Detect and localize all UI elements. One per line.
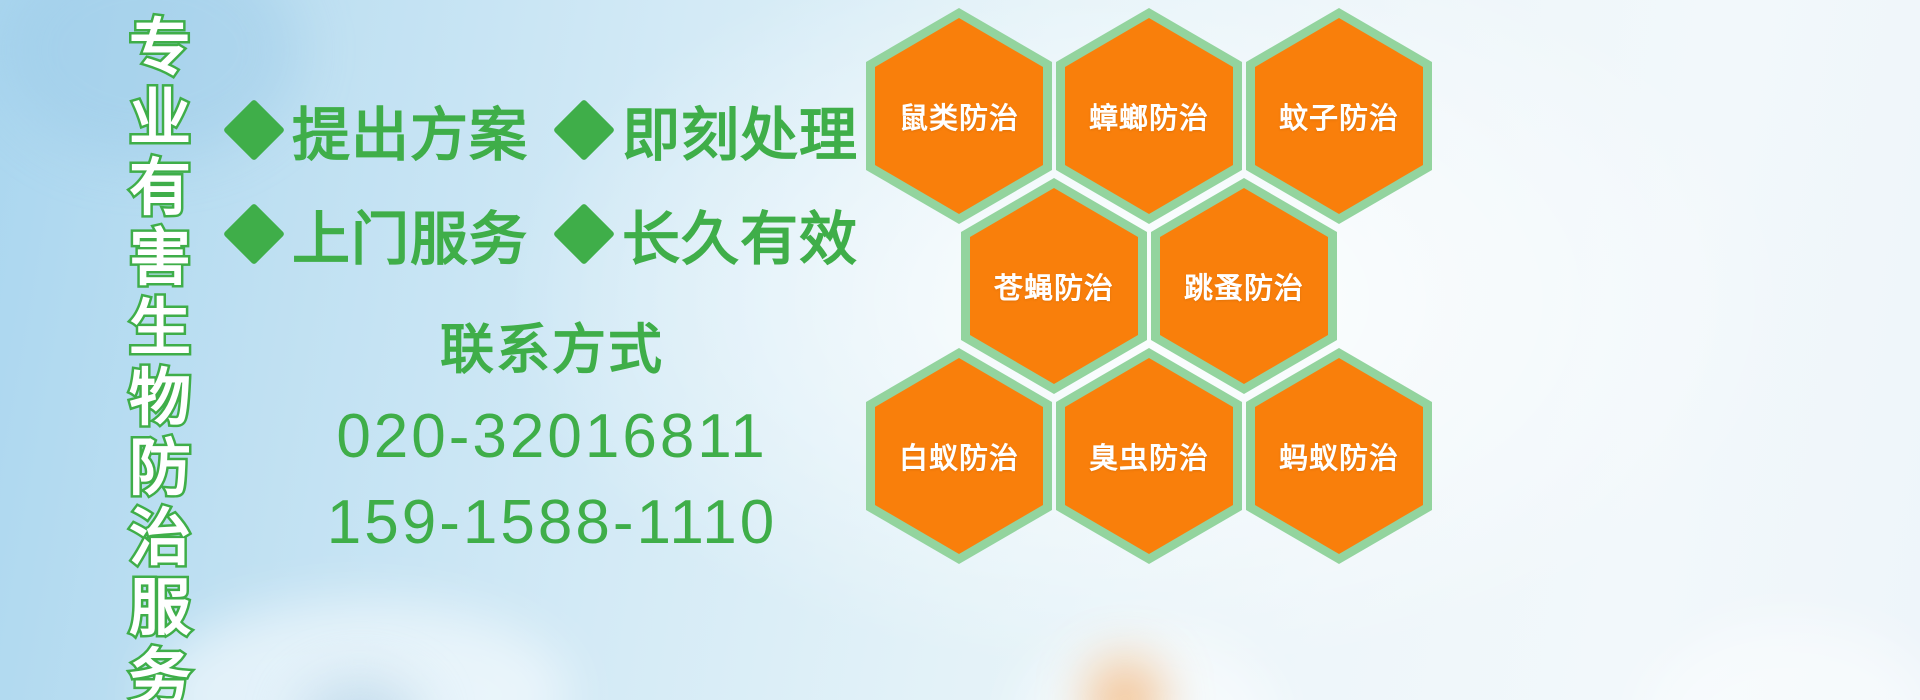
vertical-headline-char: 防 — [129, 434, 191, 504]
feature-label: 提出方案 — [292, 88, 528, 172]
service-hex-label: 白蚁防治 — [899, 435, 1019, 477]
vertical-headline-char: 服 — [129, 574, 191, 644]
background-blur-blob — [1020, 630, 1280, 700]
background-blur-blob — [150, 600, 570, 700]
service-hex-bedbug[interactable]: 臭虫防治 — [1056, 348, 1242, 564]
feature-row: 上门服务 长久有效 — [232, 182, 872, 286]
vertical-headline-char: 治 — [129, 504, 191, 574]
pest-control-service-banner: 专 业 有 害 生 物 防 治 服 务 提出方案 即刻处理 上门服务 — [0, 0, 1920, 700]
contact-phone-landline[interactable]: 020-32016811 — [232, 394, 872, 480]
service-hex-label: 蚊子防治 — [1279, 95, 1399, 137]
service-hex-cockroach[interactable]: 蟑螂防治 — [1056, 8, 1242, 224]
service-hex-mosquito[interactable]: 蚊子防治 — [1246, 8, 1432, 224]
service-hex-label: 蚂蚁防治 — [1279, 435, 1399, 477]
service-hex-rodent[interactable]: 鼠类防治 — [866, 8, 1052, 224]
feature-item-onsite-service: 上门服务 — [232, 192, 528, 276]
feature-label: 上门服务 — [292, 192, 528, 276]
feature-item-propose-plan: 提出方案 — [232, 88, 528, 172]
vertical-headline-char: 专 — [129, 14, 191, 84]
service-hex-label: 跳蚤防治 — [1184, 265, 1304, 307]
service-hex-label: 臭虫防治 — [1089, 435, 1209, 477]
vertical-headline-char: 物 — [129, 364, 191, 434]
feature-label: 长久有效 — [622, 192, 858, 276]
service-hex-flea[interactable]: 跳蚤防治 — [1151, 178, 1337, 394]
feature-item-long-lasting: 长久有效 — [562, 192, 858, 276]
vertical-headline: 专 业 有 害 生 物 防 治 服 务 — [112, 14, 208, 674]
feature-row: 提出方案 即刻处理 — [232, 78, 872, 182]
vertical-headline-char: 生 — [129, 294, 191, 364]
service-hex-termite[interactable]: 白蚁防治 — [866, 348, 1052, 564]
feature-item-immediate-treatment: 即刻处理 — [562, 88, 858, 172]
background-blur-blob — [1640, 620, 1920, 700]
background-blur-blob — [300, 680, 420, 700]
vertical-headline-char: 务 — [129, 644, 191, 700]
feature-list: 提出方案 即刻处理 上门服务 长久有效 — [232, 78, 872, 286]
contact-title: 联系方式 — [232, 312, 872, 388]
contact-phone-mobile[interactable]: 159-1588-1110 — [232, 480, 872, 566]
service-hex-ant[interactable]: 蚂蚁防治 — [1246, 348, 1432, 564]
background-blur-blob — [1090, 660, 1160, 700]
service-hex-fly[interactable]: 苍蝇防治 — [961, 178, 1147, 394]
vertical-headline-char: 害 — [129, 224, 191, 294]
diamond-icon — [223, 203, 285, 265]
diamond-icon — [553, 99, 615, 161]
diamond-icon — [223, 99, 285, 161]
service-honeycomb: 鼠类防治 蟑螂防治 蚊子防治 苍蝇防治 跳蚤防治 白蚁防治 臭虫防治 — [860, 0, 1480, 570]
service-hex-label: 苍蝇防治 — [994, 265, 1114, 307]
vertical-headline-char: 有 — [129, 154, 191, 224]
service-hex-label: 鼠类防治 — [899, 95, 1019, 137]
service-hex-label: 蟑螂防治 — [1089, 95, 1209, 137]
feature-label: 即刻处理 — [622, 88, 858, 172]
diamond-icon — [553, 203, 615, 265]
vertical-headline-char: 业 — [129, 84, 191, 154]
contact-block: 联系方式 020-32016811 159-1588-1110 — [232, 312, 872, 566]
